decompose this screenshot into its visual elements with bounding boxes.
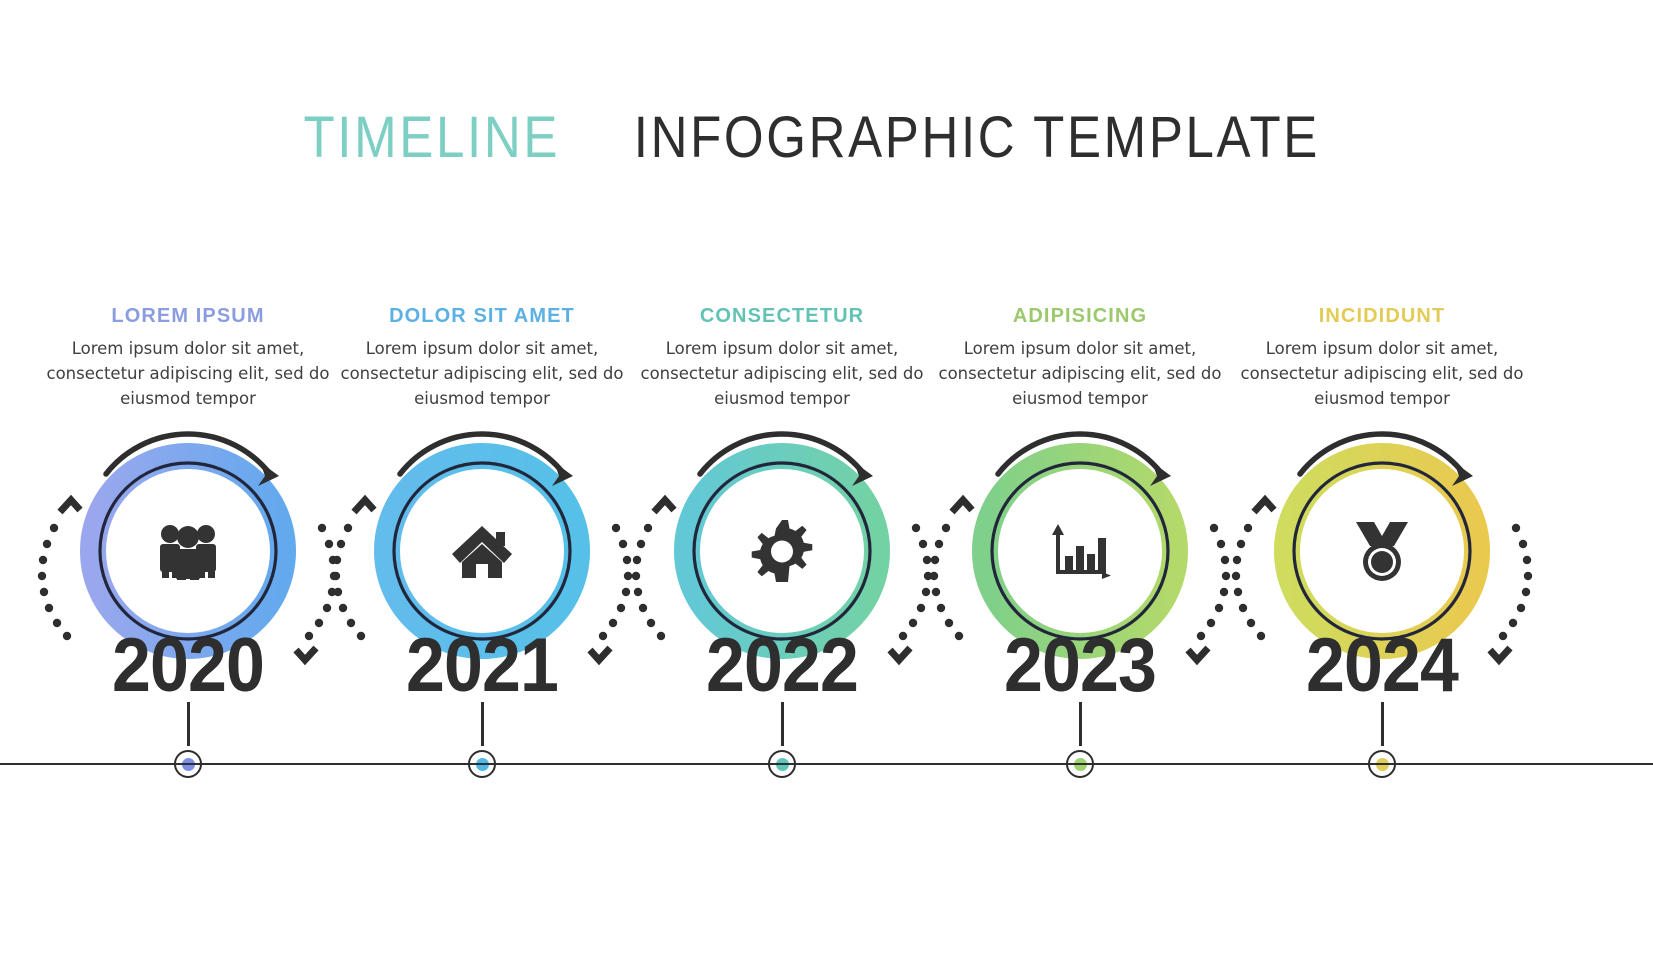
step-description: Lorem ipsum dolor sit amet, consectetur …	[328, 336, 636, 411]
step-connector	[1079, 702, 1082, 746]
step-description: Lorem ipsum dolor sit amet, consectetur …	[34, 336, 342, 411]
gear-icon	[744, 513, 820, 589]
step-year: 2023	[938, 628, 1221, 704]
step-title: LOREM IPSUM	[34, 304, 342, 328]
step-connector	[187, 702, 190, 746]
timeline-axis	[0, 763, 1653, 765]
step-header: CONSECTETUR Lorem ipsum dolor sit amet, …	[628, 304, 936, 411]
step-description: Lorem ipsum dolor sit amet, consectetur …	[926, 336, 1234, 411]
step-title: DOLOR SIT AMET	[328, 304, 636, 328]
step-connector	[481, 702, 484, 746]
step-header: LOREM IPSUM Lorem ipsum dolor sit amet, …	[34, 304, 342, 411]
step-header: INCIDIDUNT Lorem ipsum dolor sit amet, c…	[1228, 304, 1536, 411]
timeline-step-2020[interactable]: LOREM IPSUM Lorem ipsum dolor sit amet, …	[34, 0, 342, 980]
step-year: 2022	[640, 628, 923, 704]
step-title: CONSECTETUR	[628, 304, 936, 328]
home-icon	[444, 513, 520, 589]
medal-icon	[1344, 513, 1420, 589]
step-title: INCIDIDUNT	[1228, 304, 1536, 328]
step-header: ADIPISICING Lorem ipsum dolor sit amet, …	[926, 304, 1234, 411]
timeline-step-2021[interactable]: DOLOR SIT AMET Lorem ipsum dolor sit ame…	[328, 0, 636, 980]
step-connector	[1381, 702, 1384, 746]
timeline-step-2022[interactable]: CONSECTETUR Lorem ipsum dolor sit amet, …	[628, 0, 936, 980]
step-connector	[781, 702, 784, 746]
step-year: 2021	[340, 628, 623, 704]
step-description: Lorem ipsum dolor sit amet, consectetur …	[1228, 336, 1536, 411]
step-description: Lorem ipsum dolor sit amet, consectetur …	[628, 336, 936, 411]
infographic-canvas: TIMELINEINFOGRAPHIC TEMPLATE LOREM IPSUM…	[0, 0, 1653, 980]
timeline-steps: LOREM IPSUM Lorem ipsum dolor sit amet, …	[0, 0, 1653, 980]
timeline-step-2023[interactable]: ADIPISICING Lorem ipsum dolor sit amet, …	[926, 0, 1234, 980]
step-title: ADIPISICING	[926, 304, 1234, 328]
bar-chart-icon	[1042, 513, 1118, 589]
step-year: 2020	[46, 628, 329, 704]
step-header: DOLOR SIT AMET Lorem ipsum dolor sit ame…	[328, 304, 636, 411]
people-icon	[150, 513, 226, 589]
timeline-step-2024[interactable]: INCIDIDUNT Lorem ipsum dolor sit amet, c…	[1228, 0, 1536, 980]
step-year: 2024	[1240, 628, 1523, 704]
